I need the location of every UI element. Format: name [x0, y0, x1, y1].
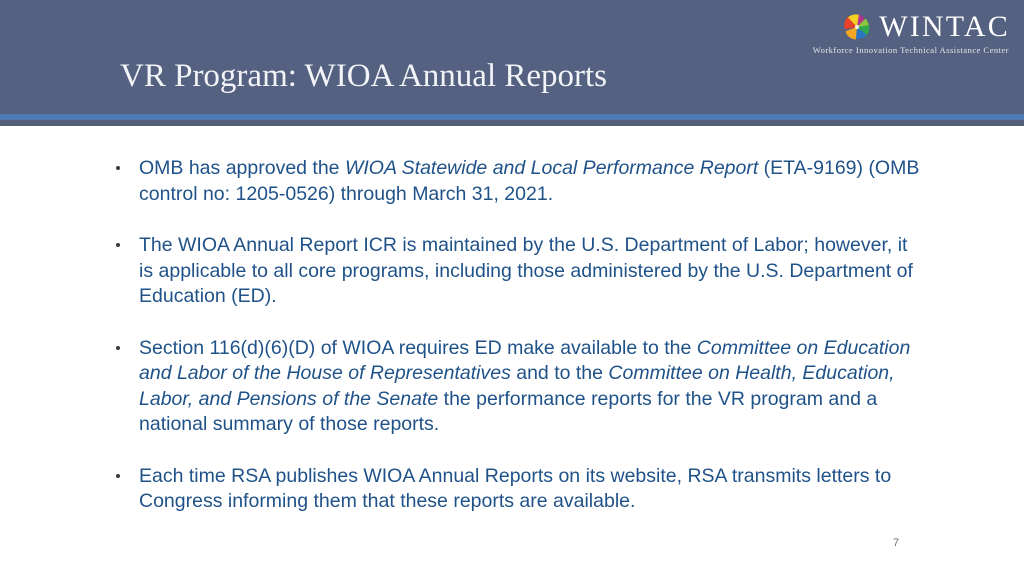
bullet-dot-icon [116, 474, 120, 478]
slide-body: OMB has approved the WIOA Statewide and … [112, 156, 922, 515]
bullet-item: The WIOA Annual Report ICR is maintained… [112, 233, 922, 310]
logo-tagline: Workforce Innovation Technical Assistanc… [813, 45, 1009, 55]
wintac-pinwheel-logo-icon [842, 12, 872, 42]
bullet-text: The WIOA Annual Report ICR is maintained… [139, 234, 913, 307]
page-number: 7 [893, 538, 899, 549]
bullet-text: Section 116(d)(6)(D) of WIOA requires ED… [139, 337, 910, 436]
bullet-item: OMB has approved the WIOA Statewide and … [112, 156, 922, 207]
bullet-text: OMB has approved the WIOA Statewide and … [139, 157, 919, 205]
wintac-logo: WINTAC Workforce Innovation Technical As… [813, 12, 1010, 55]
bullet-item: Section 116(d)(6)(D) of WIOA requires ED… [112, 336, 922, 438]
bullet-dot-icon [116, 243, 120, 247]
slide-canvas: WINTAC Workforce Innovation Technical As… [0, 0, 1024, 576]
header-accent-stripe-dark [0, 120, 1024, 126]
logo-wordmark: WINTAC [879, 12, 1010, 42]
bullet-dot-icon [116, 346, 120, 350]
slide-title: VR Program: WIOA Annual Reports [120, 57, 607, 97]
bullet-dot-icon [116, 166, 120, 170]
bullet-item: Each time RSA publishes WIOA Annual Repo… [112, 464, 922, 515]
bullet-text: Each time RSA publishes WIOA Annual Repo… [139, 465, 891, 513]
logo-row: WINTAC [842, 12, 1010, 42]
